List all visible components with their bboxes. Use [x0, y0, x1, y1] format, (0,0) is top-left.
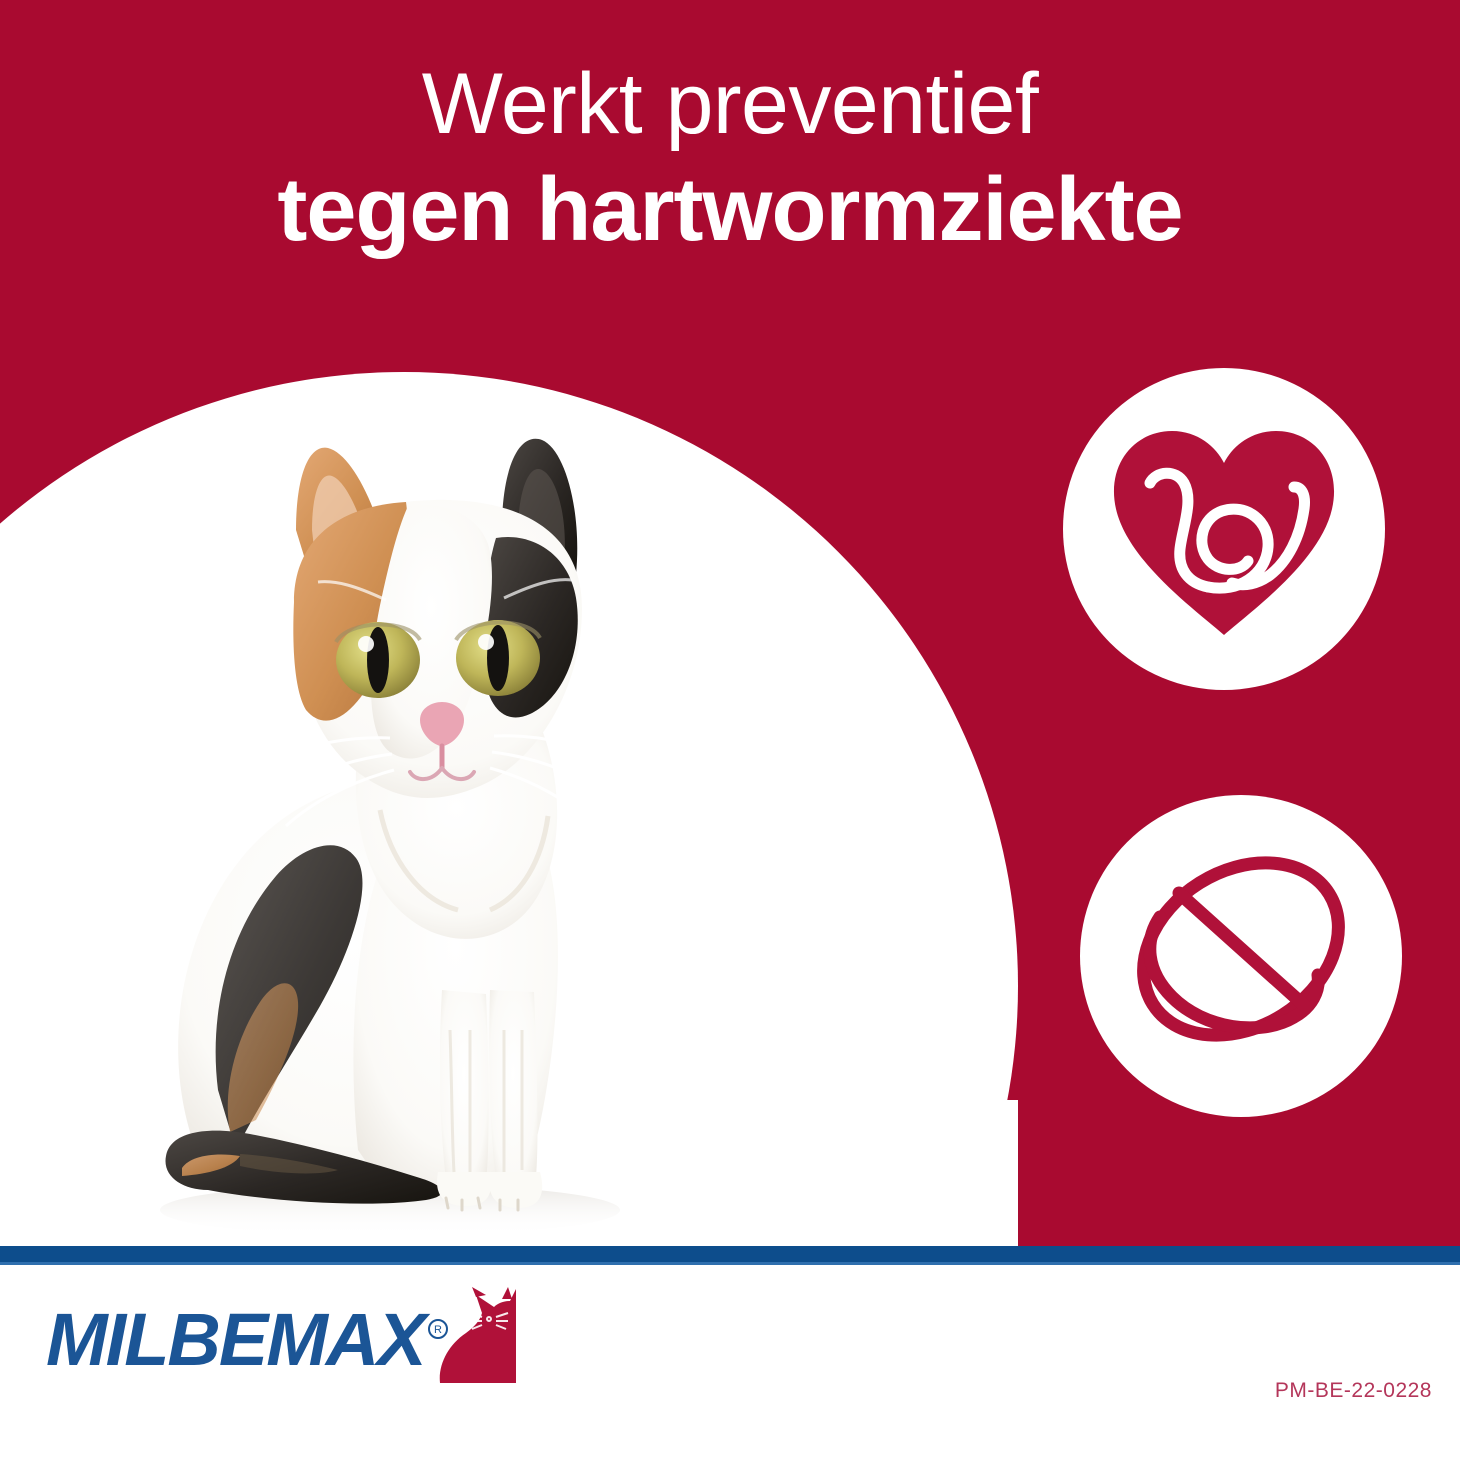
advertisement-banner: Werkt preventief tegen hartwormziekte	[0, 0, 1460, 1460]
heartworm-badge	[1063, 368, 1385, 690]
headline: Werkt preventief tegen hartwormziekte	[0, 52, 1460, 264]
divider-highlight	[0, 1262, 1460, 1265]
reference-code: PM-BE-22-0228	[1275, 1379, 1432, 1403]
svg-text:R: R	[434, 1324, 442, 1336]
cat-photo	[90, 390, 730, 1246]
divider-bar	[0, 1246, 1460, 1262]
tablet-icon	[1116, 831, 1366, 1081]
heartworm-icon	[1098, 403, 1350, 655]
milbemax-logo: MILBEMAX R	[46, 1287, 516, 1397]
svg-text:MILBEMAX: MILBEMAX	[46, 1298, 431, 1381]
headline-line-1: Werkt preventief	[0, 52, 1460, 156]
tablet-badge	[1080, 795, 1402, 1117]
footer: MILBEMAX R PM-BE-22-0228	[0, 1265, 1460, 1460]
headline-line-2: tegen hartwormziekte	[0, 156, 1460, 264]
hero-panel: Werkt preventief tegen hartwormziekte	[0, 0, 1460, 1246]
